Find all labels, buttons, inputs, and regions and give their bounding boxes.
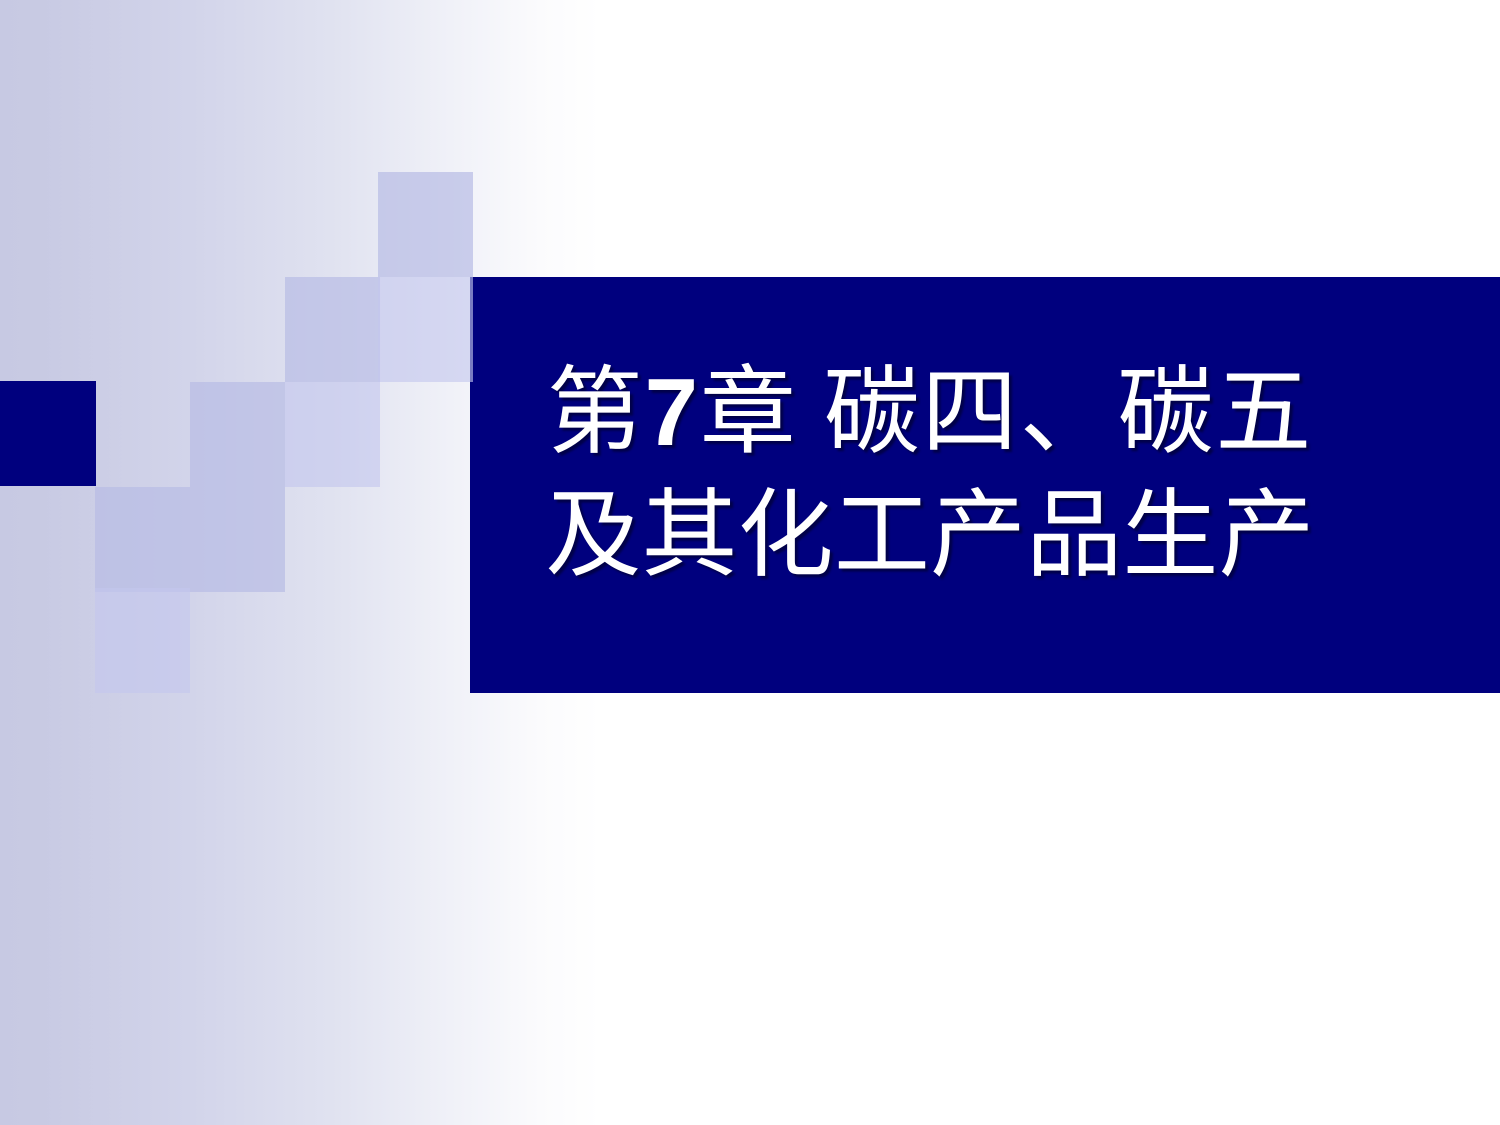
decor-square-row4-right — [190, 487, 285, 592]
title-line-2: 及其化工产品生产 — [360, 475, 1500, 598]
decor-navy-accent-square — [0, 381, 96, 486]
decor-square-row3-left — [190, 382, 285, 487]
decor-square-row4-left — [95, 487, 190, 592]
title-slide: 第7章 碳四、碳五 及其化工产品生产 — [0, 0, 1500, 1125]
decor-square-row5 — [95, 588, 190, 693]
title-suffix: 章 碳四、碳五 — [700, 359, 1313, 466]
chapter-number: 7 — [645, 359, 700, 466]
title-prefix: 第 — [547, 359, 645, 466]
slide-title: 第7章 碳四、碳五 及其化工产品生产 — [360, 352, 1500, 598]
title-line-1: 第7章 碳四、碳五 — [360, 352, 1500, 475]
decor-square-top — [378, 172, 473, 277]
